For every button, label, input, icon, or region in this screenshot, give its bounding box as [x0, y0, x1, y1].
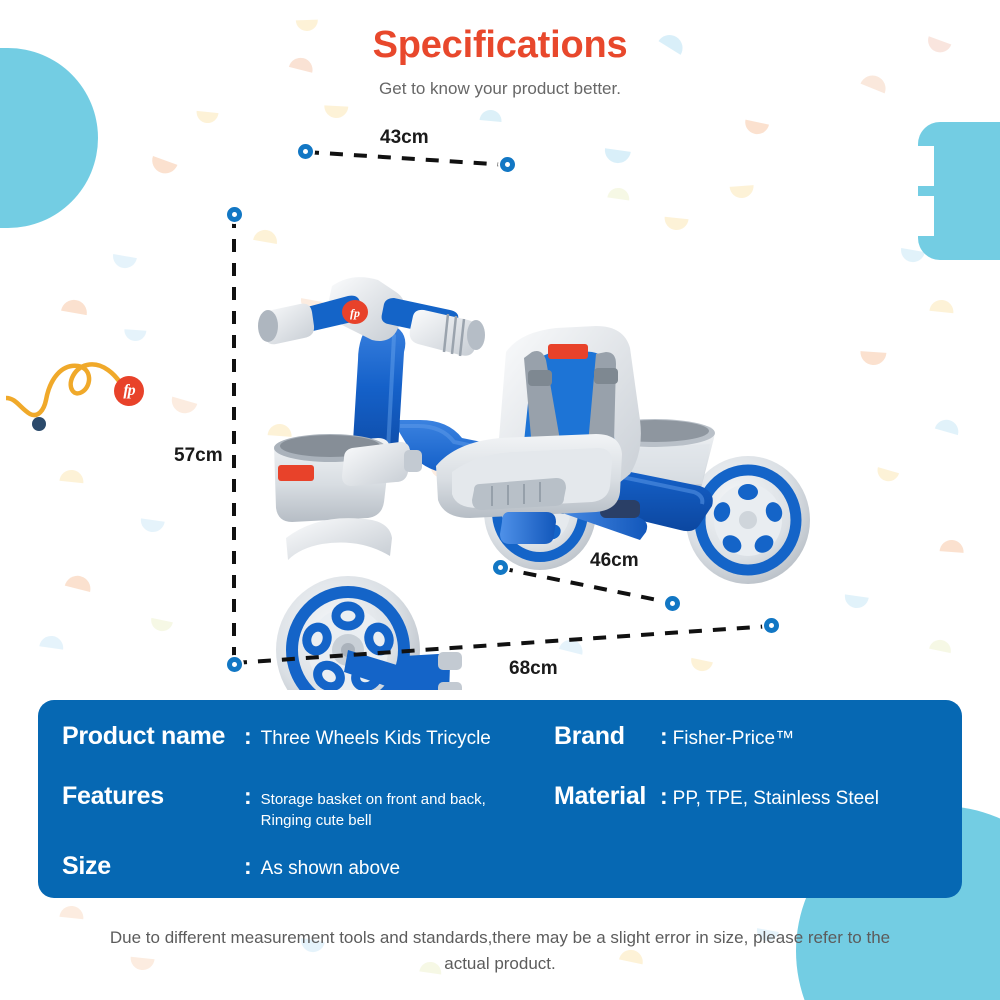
spec-key-material: Material — [554, 782, 660, 811]
dimension-label-rear-track-width: 46cm — [584, 549, 645, 573]
confetti-shape — [59, 905, 84, 919]
spec-row-brand: Brand : Fisher-Price™ — [554, 722, 794, 751]
page-subtitle: Get to know your product better. — [0, 79, 1000, 99]
dim-endpoint-46-right — [663, 594, 682, 613]
page-title: Specifications — [0, 24, 1000, 67]
spec-row-material: Material : PP, TPE, Stainless Steel — [554, 782, 879, 811]
spec-key-size: Size — [62, 852, 244, 881]
rear-wheel-right — [686, 456, 810, 584]
spec-row-size: Size : As shown above — [62, 852, 400, 881]
spec-row-features: Features : Storage basket on front and b… — [62, 782, 486, 832]
dimension-label-overall-length: 68cm — [503, 657, 564, 681]
dim-endpoint-43-right — [498, 155, 517, 174]
spec-key-product-name: Product name — [62, 722, 244, 751]
spec-row-product-name: Product name : Three Wheels Kids Tricycl… — [62, 722, 491, 751]
spec-key-brand: Brand — [554, 722, 660, 751]
spec-key-features: Features — [62, 782, 244, 811]
tricycle-illustration: fp — [0, 120, 1000, 690]
svg-text:fp: fp — [350, 306, 360, 320]
spec-value-size: As shown above — [261, 858, 400, 880]
spec-colon: : — [660, 723, 668, 750]
dim-endpoint-57-bottom — [225, 655, 244, 674]
header: Specifications Get to know your product … — [0, 24, 1000, 99]
dimension-label-overall-height: 57cm — [168, 444, 229, 468]
front-fender — [286, 518, 392, 560]
specification-panel: Product name : Three Wheels Kids Tricycl… — [38, 700, 962, 898]
spec-value-brand: Fisher-Price™ — [673, 728, 794, 750]
spec-value-product-name: Three Wheels Kids Tricycle — [261, 728, 491, 750]
confetti-shape — [324, 105, 349, 118]
dim-endpoint-57-top — [225, 205, 244, 224]
dim-endpoint-68-right — [762, 616, 781, 635]
product-image: fp — [0, 120, 1000, 690]
dimension-label-handlebar-width: 43cm — [374, 126, 435, 150]
spec-colon: : — [244, 783, 252, 810]
footer-disclaimer: Due to different measurement tools and s… — [100, 925, 900, 976]
fisher-price-label-front — [278, 465, 314, 481]
spec-value-features: Storage basket on front and back, Ringin… — [261, 789, 486, 832]
specifications-infographic: fp Specifications Get to know your produ… — [0, 0, 1000, 1000]
spec-value-material: PP, TPE, Stainless Steel — [673, 788, 879, 810]
fisher-price-label-seat — [548, 344, 588, 359]
spec-colon: : — [660, 783, 668, 810]
spec-colon: : — [244, 723, 252, 750]
spec-colon: : — [244, 853, 252, 880]
dim-endpoint-46-left — [491, 558, 510, 577]
dim-endpoint-43-left — [296, 142, 315, 161]
